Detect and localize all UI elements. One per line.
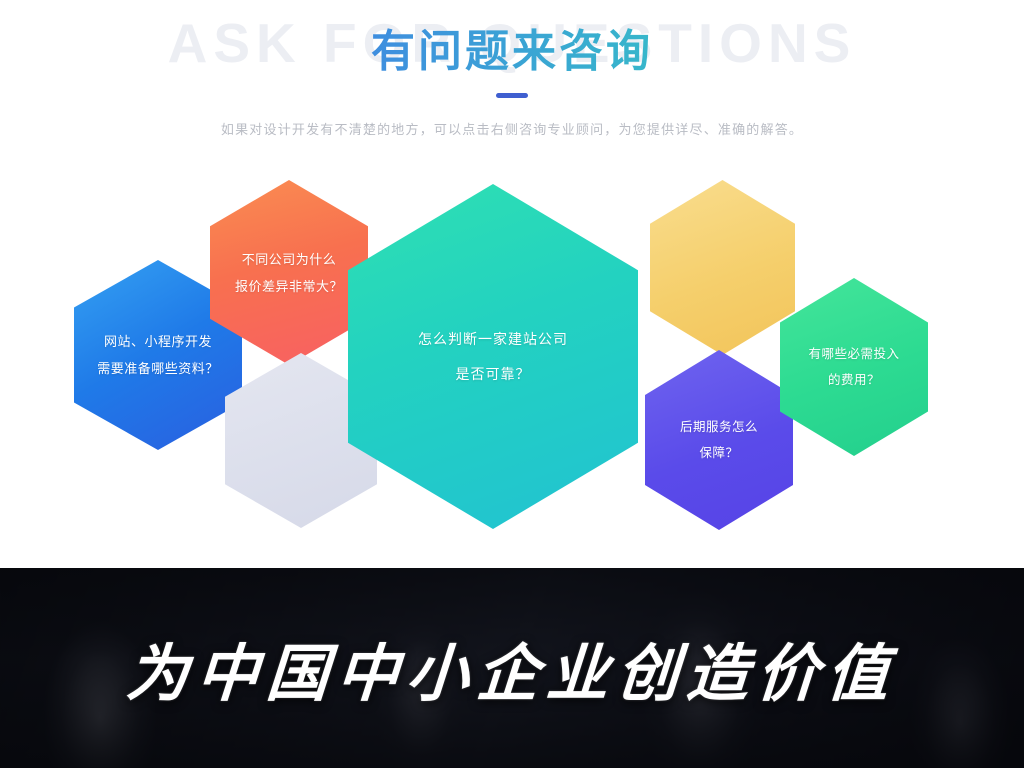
page-root: ASK FOR QUESTIONS 有问题来咨询 如果对设计开发有不清楚的地方，…	[0, 0, 1024, 768]
hex-card-empty-yellow	[650, 180, 795, 355]
hex-label-line-1: 不同公司为什么	[242, 246, 337, 273]
hex-label-line-2: 是否可靠？	[456, 357, 531, 392]
title-divider	[496, 93, 528, 98]
banner-slogan: 为中国中小企业创造价值	[0, 568, 1024, 768]
section-bottom-banner: 为中国中小企业创造价值	[0, 568, 1024, 768]
hex-label-line-1: 有哪些必需投入	[808, 341, 899, 367]
hex-card-required-costs[interactable]: 有哪些必需投入 的费用？	[780, 278, 928, 456]
hex-label-line-2: 报价差异非常大？	[235, 273, 343, 300]
hex-label-line-2: 需要准备哪些资料？	[97, 355, 219, 382]
hex-card-judge-company[interactable]: 怎么判断一家建站公司 是否可靠？	[348, 184, 638, 529]
question-hexagon-group: 网站、小程序开发 需要准备哪些资料？ 不同公司为什么 报价差异非常大？ 怎么判断…	[0, 160, 1024, 560]
hex-label-line-2: 的费用？	[828, 367, 880, 393]
page-title: 有问题来咨询	[0, 24, 1024, 80]
header-subtitle: 如果对设计开发有不清楚的地方，可以点击右侧咨询专业顾问，为您提供详尽、准确的解答…	[0, 120, 1024, 140]
hex-label-line-1: 网站、小程序开发	[104, 328, 212, 355]
hex-label-line-2: 保障？	[699, 440, 738, 466]
hex-card-after-sales[interactable]: 后期服务怎么 保障？	[645, 350, 793, 530]
hex-label-line-1: 怎么判断一家建站公司	[418, 322, 568, 357]
hex-label-line-1: 后期服务怎么	[680, 414, 758, 440]
section-header: ASK FOR QUESTIONS 有问题来咨询 如果对设计开发有不清楚的地方，…	[0, 0, 1024, 160]
